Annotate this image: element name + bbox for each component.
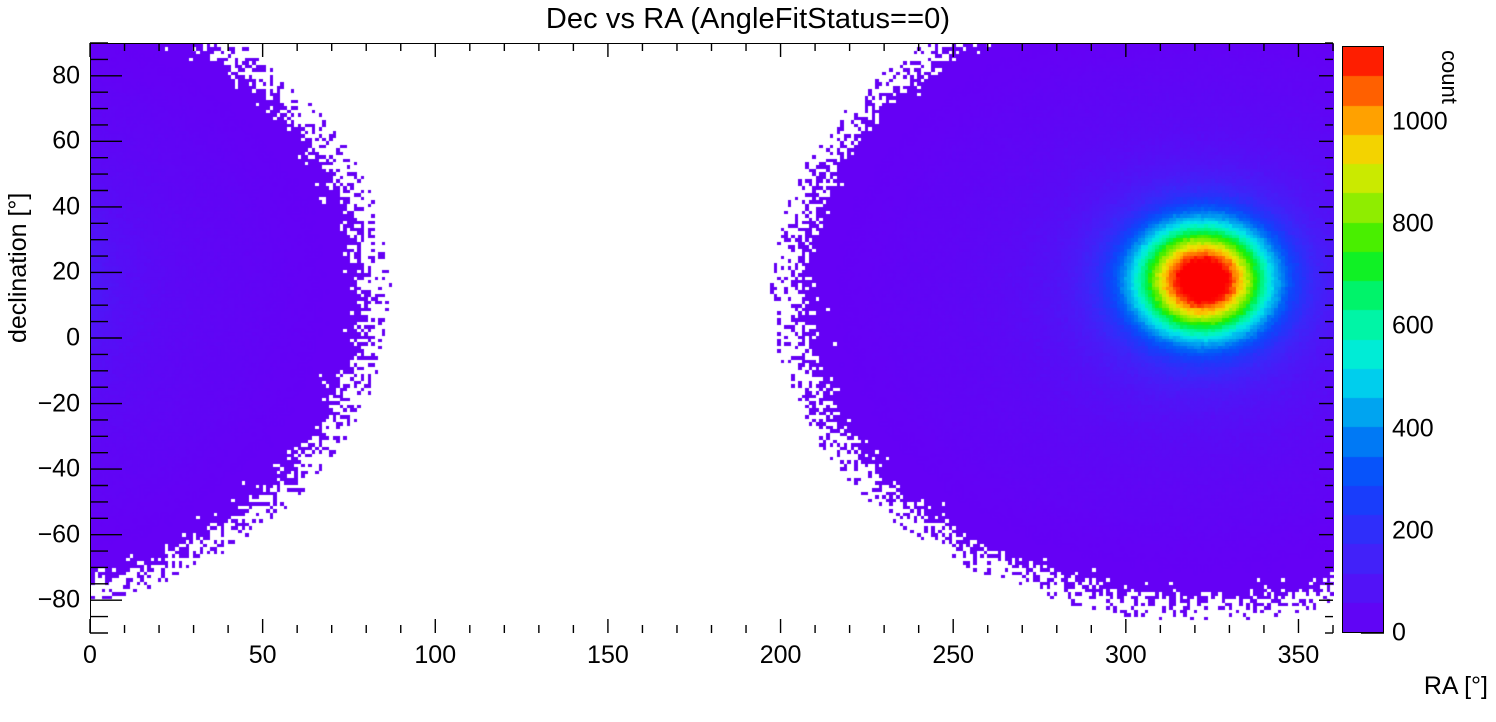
y-tick-label: 20 bbox=[52, 258, 80, 287]
y-tick-label: 0 bbox=[66, 324, 80, 353]
color-bar-tick-label: 800 bbox=[1392, 210, 1434, 239]
x-tick-label: 200 bbox=[760, 641, 802, 670]
y-tick-label: −20 bbox=[38, 389, 80, 418]
y-axis-title-wrap: declination [°] bbox=[0, 0, 40, 600]
x-tick-label: 250 bbox=[932, 641, 974, 670]
color-bar-canvas bbox=[1343, 47, 1383, 632]
plot-frame bbox=[90, 43, 1333, 633]
x-tick-label: 350 bbox=[1278, 641, 1320, 670]
color-bar bbox=[1342, 46, 1384, 633]
y-axis-title: declination [°] bbox=[4, 43, 33, 343]
y-tick-label: 60 bbox=[52, 127, 80, 156]
y-tick-label: −80 bbox=[38, 586, 80, 615]
y-tick-label: 40 bbox=[52, 192, 80, 221]
y-tick-label: −40 bbox=[38, 455, 80, 484]
y-tick-label: 80 bbox=[52, 61, 80, 90]
color-bar-title: count bbox=[1436, 50, 1462, 104]
color-bar-tick-label: 600 bbox=[1392, 312, 1434, 341]
x-axis-title: RA [°] bbox=[1424, 672, 1488, 701]
histogram-canvas bbox=[91, 44, 1334, 634]
x-tick-label: 50 bbox=[249, 641, 277, 670]
x-tick-label: 0 bbox=[83, 641, 97, 670]
color-bar-tick-label: 1000 bbox=[1392, 108, 1448, 137]
page-title: Dec vs RA (AngleFitStatus==0) bbox=[0, 3, 1496, 36]
color-bar-tick-label: 200 bbox=[1392, 516, 1434, 545]
x-tick-label: 150 bbox=[587, 641, 629, 670]
x-tick-label: 300 bbox=[1105, 641, 1147, 670]
y-tick-label: −60 bbox=[38, 520, 80, 549]
x-tick-label: 100 bbox=[414, 641, 456, 670]
color-bar-tick-label: 0 bbox=[1392, 619, 1406, 648]
color-bar-tick-label: 400 bbox=[1392, 414, 1434, 443]
